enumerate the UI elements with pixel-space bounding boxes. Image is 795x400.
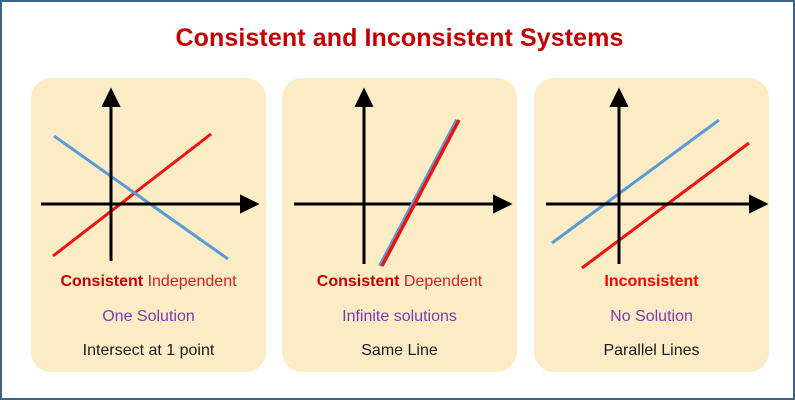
- panel-consistent-dependent: Consistent Dependent Infinite solutions …: [282, 78, 517, 372]
- page-title: Consistent and Inconsistent Systems: [2, 24, 795, 53]
- classification-normal: Independent: [143, 273, 236, 290]
- classification-normal: Dependent: [399, 273, 482, 290]
- classification-label: Consistent Dependent: [282, 271, 517, 293]
- graph-consistent-independent: [31, 86, 266, 271]
- graph-description-label: Same Line: [282, 340, 517, 362]
- captions-inconsistent: Inconsistent No Solution Parallel Lines: [534, 271, 769, 362]
- graph-description-label: Parallel Lines: [534, 340, 769, 362]
- panel-consistent-independent: Consistent Independent One Solution Inte…: [31, 78, 266, 372]
- classification-strong: Consistent: [60, 273, 143, 290]
- blue-line: [380, 120, 457, 266]
- blue-line: [54, 136, 228, 259]
- captions-consistent-dependent: Consistent Dependent Infinite solutions …: [282, 271, 517, 362]
- graph-inconsistent: [534, 86, 769, 271]
- red-line: [382, 120, 459, 266]
- graph-description-label: Intersect at 1 point: [31, 340, 266, 362]
- diagram-canvas: Consistent and Inconsistent Systems Cons…: [0, 0, 795, 400]
- graph-consistent-dependent: [282, 86, 517, 271]
- captions-consistent-independent: Consistent Independent One Solution Inte…: [31, 271, 266, 362]
- solution-count-label: No Solution: [534, 306, 769, 328]
- classification-strong: Consistent: [317, 273, 400, 290]
- classification-label: Inconsistent: [534, 271, 769, 293]
- solution-count-label: One Solution: [31, 306, 266, 328]
- classification-strong: Inconsistent: [604, 273, 698, 290]
- panel-inconsistent: Inconsistent No Solution Parallel Lines: [534, 78, 769, 372]
- classification-label: Consistent Independent: [31, 271, 266, 293]
- blue-line: [552, 120, 719, 243]
- solution-count-label: Infinite solutions: [282, 306, 517, 328]
